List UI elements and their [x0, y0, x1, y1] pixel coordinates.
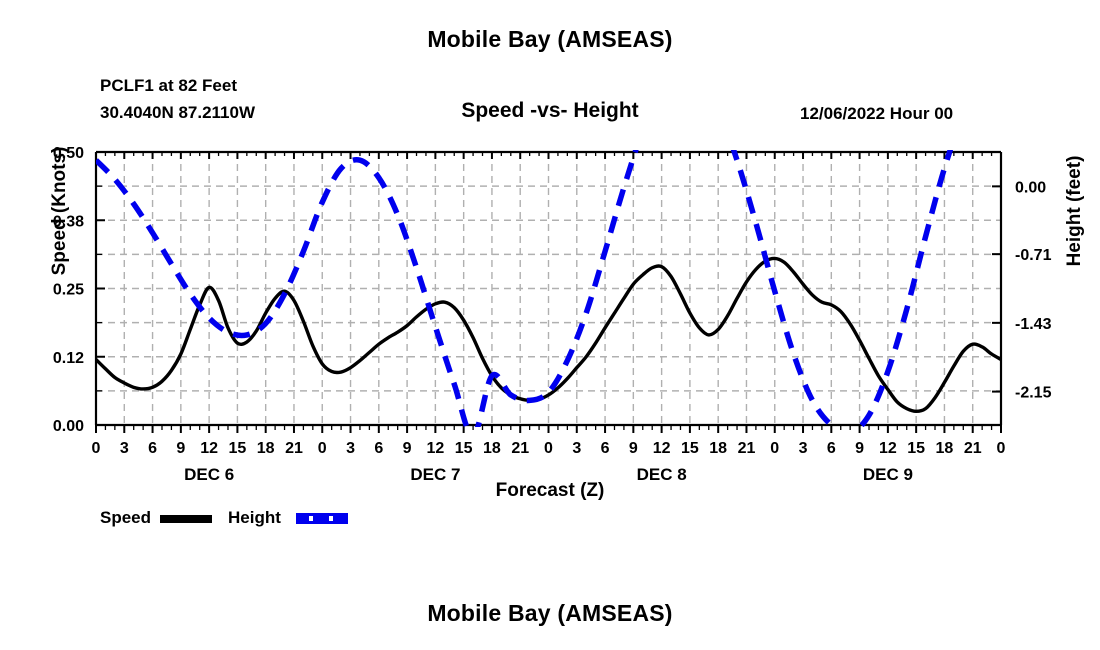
- legend-label-speed: Speed: [100, 508, 151, 528]
- x-axis-tick-label: 6: [148, 440, 157, 457]
- x-axis-tick-label: 9: [629, 440, 638, 457]
- y-axis-right-tick-label: -2.15: [1015, 385, 1052, 402]
- x-axis-day-label: DEC 6: [184, 465, 234, 484]
- y-axis-right-tick-label: 0.00: [1015, 179, 1046, 196]
- x-axis-tick-label: 3: [799, 440, 808, 457]
- x-axis-tick-label: 18: [483, 440, 501, 457]
- x-axis-tick-label: 18: [257, 440, 275, 457]
- x-axis-tick-label: 21: [511, 440, 529, 457]
- x-axis-tick-label: 9: [855, 440, 864, 457]
- x-axis-tick-label: 6: [374, 440, 383, 457]
- x-axis-tick-label: 12: [653, 440, 671, 457]
- x-axis-tick-label: 15: [907, 440, 925, 457]
- x-axis-tick-label: 15: [229, 440, 247, 457]
- grid-lines: [96, 152, 1001, 425]
- x-axis-tick-label: 15: [681, 440, 699, 457]
- x-axis-tick-label: 18: [936, 440, 954, 457]
- x-axis-tick-label: 0: [544, 440, 553, 457]
- legend-swatch-speed: [160, 515, 212, 523]
- x-axis-tick-label: 3: [120, 440, 129, 457]
- x-axis-day-label: DEC 7: [410, 465, 460, 484]
- x-axis-tick-label: 3: [572, 440, 581, 457]
- y-axis-left-tick-label: 0.25: [53, 282, 84, 299]
- tick-labels: 0.000.120.250.380.500.00-0.71-1.43-2.150…: [53, 145, 1052, 484]
- y-axis-left-tick-label: 0.00: [53, 418, 84, 435]
- x-axis-tick-label: 0: [770, 440, 779, 457]
- x-axis-day-label: DEC 9: [863, 465, 913, 484]
- x-axis-tick-label: 9: [403, 440, 412, 457]
- page-title-bottom: Mobile Bay (AMSEAS): [0, 600, 1100, 627]
- chart-plot-area: 0.000.120.250.380.500.00-0.71-1.43-2.150…: [0, 0, 1100, 500]
- x-axis-tick-label: 3: [346, 440, 355, 457]
- x-axis-tick-label: 6: [827, 440, 836, 457]
- x-axis-tick-label: 21: [285, 440, 303, 457]
- x-axis-tick-label: 15: [455, 440, 473, 457]
- chart-page: Mobile Bay (AMSEAS) PCLF1 at 82 Feet 30.…: [0, 0, 1100, 650]
- x-axis-tick-label: 21: [964, 440, 982, 457]
- x-axis-tick-label: 6: [601, 440, 610, 457]
- x-axis-tick-label: 21: [738, 440, 756, 457]
- y-axis-left-tick-label: 0.12: [53, 350, 84, 367]
- y-axis-left-tick-label: 0.50: [53, 145, 84, 162]
- series-group: [96, 67, 1100, 436]
- x-axis-tick-label: 12: [879, 440, 897, 457]
- x-axis-tick-label: 12: [426, 440, 444, 457]
- x-axis-day-label: DEC 8: [637, 465, 687, 484]
- x-axis-tick-label: 0: [318, 440, 327, 457]
- x-axis-tick-label: 0: [997, 440, 1006, 457]
- y-axis-right-tick-label: -1.43: [1015, 316, 1052, 333]
- y-axis-right-tick-label: -0.71: [1015, 247, 1052, 264]
- x-axis-tick-label: 18: [709, 440, 727, 457]
- x-axis-tick-label: 9: [176, 440, 185, 457]
- legend-label-height: Height: [228, 508, 281, 528]
- y-axis-left-tick-label: 0.38: [53, 213, 84, 230]
- x-axis-tick-label: 12: [200, 440, 218, 457]
- x-axis-tick-label: 0: [92, 440, 101, 457]
- legend-swatch-height: [296, 513, 348, 524]
